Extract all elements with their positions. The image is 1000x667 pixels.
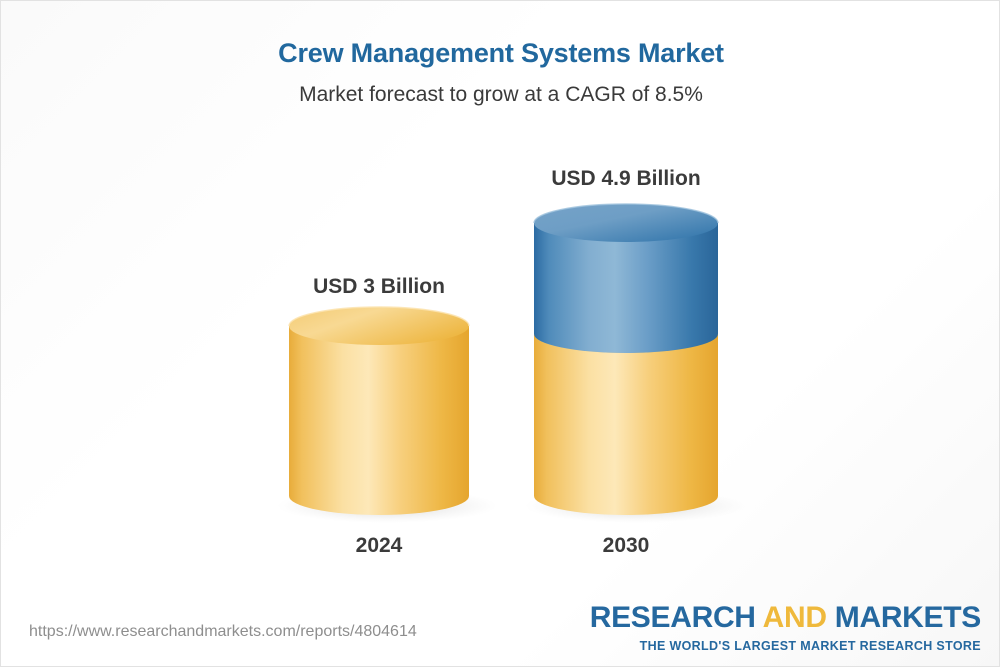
bar-2030-segment-base-body bbox=[534, 334, 718, 515]
bar-2024-body bbox=[289, 326, 469, 515]
logo-word-markets: MARKETS bbox=[835, 601, 981, 634]
bar-2024[interactable] bbox=[277, 307, 497, 523]
logo-word-and: AND bbox=[763, 601, 827, 634]
infographic-card: Crew Management Systems Market Market fo… bbox=[0, 0, 1000, 667]
logo-wordmark: RESEARCH AND MARKETS bbox=[590, 603, 981, 633]
logo-tagline: THE WORLD'S LARGEST MARKET RESEARCH STOR… bbox=[590, 640, 981, 653]
logo-word-research: RESEARCH bbox=[590, 601, 756, 634]
brand-logo[interactable]: RESEARCH AND MARKETS THE WORLD'S LARGEST… bbox=[590, 603, 981, 653]
cylinder-chart-svg bbox=[1, 1, 1000, 667]
bar-value-label-2024: USD 3 Billion bbox=[279, 275, 479, 299]
category-label-2024: 2024 bbox=[279, 534, 479, 558]
category-label-2030: 2030 bbox=[526, 534, 726, 558]
bar-2030[interactable] bbox=[525, 204, 745, 523]
chart-plot-area: USD 3 Billion USD 4.9 Billion 2024 2030 bbox=[1, 1, 1000, 667]
bar-2030-segment-growth-body bbox=[534, 223, 718, 353]
bar-value-label-2030: USD 4.9 Billion bbox=[526, 167, 726, 191]
source-url[interactable]: https://www.researchandmarkets.com/repor… bbox=[29, 623, 417, 641]
